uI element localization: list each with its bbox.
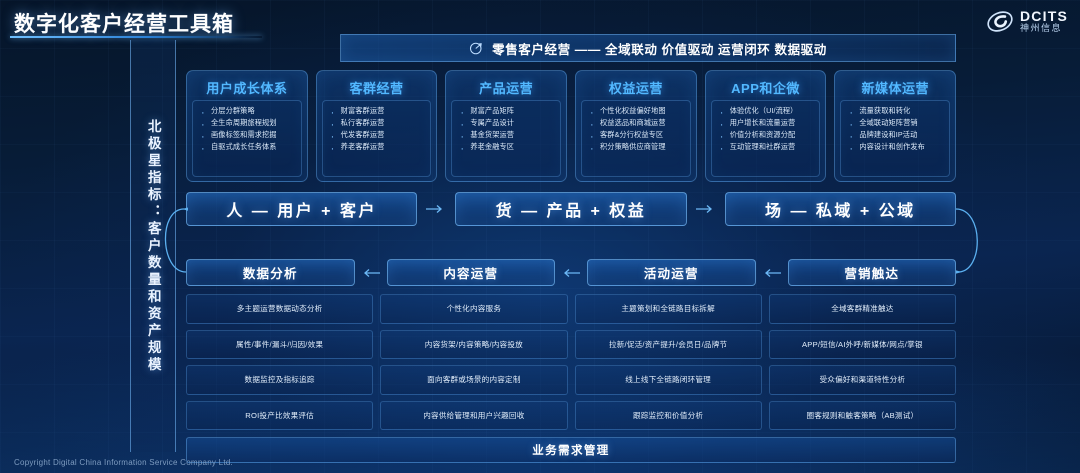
capability-card[interactable]: 产品运营 财富产品矩阵 专属产品设计 基金货架运营 养老金融专区 <box>445 70 567 182</box>
arrow-right-icon <box>696 204 716 214</box>
stage-header-content-ops[interactable]: 内容运营 <box>387 259 556 286</box>
capability-card[interactable]: APP和企微 体验优化（UI/流程） 用户增长和流量运营 价值分析和资源分配 互… <box>705 70 827 182</box>
north-star-rail: 北极星指标：客户数量和资产规模 <box>130 40 176 452</box>
pillar-flow-row: 人 — 用户 + 客户 货 — 产品 + 权益 场 — 私域 + 公域 <box>186 192 956 226</box>
logo-text-en: DCITS <box>1020 9 1068 24</box>
pillar-box-goods[interactable]: 货 — 产品 + 权益 <box>455 192 686 226</box>
card-bullet: 全域联动矩阵营销 <box>846 117 945 129</box>
card-title: 产品运营 <box>451 76 561 100</box>
detail-cell[interactable]: 多主题运营数据动态分析 <box>186 294 373 324</box>
page-title: 数字化客户经营工具箱 <box>14 8 234 38</box>
stage-header-campaign-ops[interactable]: 活动运营 <box>587 259 756 286</box>
card-title: APP和企微 <box>711 76 821 100</box>
capability-card[interactable]: 新媒体运营 流量获取和转化 全域联动矩阵营销 品牌建设和IP活动 内容设计和创作… <box>834 70 956 182</box>
detail-cell[interactable]: 受众偏好和渠道特性分析 <box>769 365 956 395</box>
detail-cell[interactable]: APP/短信/AI外呼/新媒体/网点/掌银 <box>769 330 956 360</box>
card-bullet: 养老客群运营 <box>328 141 427 153</box>
detail-cell[interactable]: 线上线下全链路闭环管理 <box>575 365 762 395</box>
card-bullet: 用户增长和流量运营 <box>717 117 816 129</box>
detail-cell[interactable]: ROI投产比效果评估 <box>186 401 373 431</box>
card-bullet: 自驱式成长任务体系 <box>198 141 297 153</box>
card-bullet: 互动管理和社群运营 <box>717 141 816 153</box>
card-body: 财富产品矩阵 专属产品设计 基金货架运营 养老金融专区 <box>451 100 561 177</box>
arrow-left-icon <box>562 268 580 278</box>
spiral-logo-icon <box>986 9 1014 34</box>
detail-cell[interactable]: 拉新/促活/资产提升/会员日/品牌节 <box>575 330 762 360</box>
card-bullet: 财富产品矩阵 <box>457 105 556 117</box>
detail-cell[interactable]: 数据监控及指标追踪 <box>186 365 373 395</box>
detail-cell[interactable]: 面向客群或场景的内容定制 <box>380 365 567 395</box>
detail-column-content-ops: 个性化内容服务 内容货架/内容策略/内容投放 面向客群或场景的内容定制 内容供给… <box>380 294 567 430</box>
card-bullet: 代发客群运营 <box>328 129 427 141</box>
bottom-bar-demand-management[interactable]: 业务需求管理 <box>186 437 956 463</box>
detail-cell[interactable]: 全域客群精准触达 <box>769 294 956 324</box>
target-arrow-icon <box>469 41 484 56</box>
stage-header-data-analysis[interactable]: 数据分析 <box>186 259 355 286</box>
capability-card[interactable]: 权益运营 个性化权益偏好地图 权益选品和商城运营 客群&分行权益专区 积分策略供… <box>575 70 697 182</box>
card-bullet: 内容设计和创作发布 <box>846 141 945 153</box>
capability-card[interactable]: 客群经营 财富客群运营 私行客群运营 代发客群运营 养老客群运营 <box>316 70 438 182</box>
arrow-left-icon <box>763 268 781 278</box>
detail-column-marketing-reach: 全域客群精准触达 APP/短信/AI外呼/新媒体/网点/掌银 受众偏好和渠道特性… <box>769 294 956 430</box>
copyright-text: Copyright Digital China Information Serv… <box>14 458 233 467</box>
card-bullet: 基金货架运营 <box>457 129 556 141</box>
logo-text-cn: 神州信息 <box>1020 24 1068 33</box>
card-bullet: 权益选品和商城运营 <box>587 117 686 129</box>
detail-cell[interactable]: 个性化内容服务 <box>380 294 567 324</box>
capability-card-row: 用户成长体系 分层分群策略 全生命周期旅程规划 画像标签和需求挖掘 自驱式成长任… <box>186 70 956 182</box>
north-star-label: 北极星指标：客户数量和资产规模 <box>146 119 160 374</box>
pillar-box-place[interactable]: 场 — 私域 + 公域 <box>725 192 956 226</box>
card-bullet: 价值分析和资源分配 <box>717 129 816 141</box>
stage-header-row: 数据分析 内容运营 活动运营 营销触达 <box>186 259 956 286</box>
card-body: 流量获取和转化 全域联动矩阵营销 品牌建设和IP活动 内容设计和创作发布 <box>840 100 950 177</box>
card-title: 新媒体运营 <box>840 76 950 100</box>
pillar-box-people[interactable]: 人 — 用户 + 客户 <box>186 192 417 226</box>
detail-column-data-analysis: 多主题运营数据动态分析 属性/事件/漏斗/归因/效果 数据监控及指标追踪 ROI… <box>186 294 373 430</box>
stage-header-marketing-reach[interactable]: 营销触达 <box>788 259 957 286</box>
detail-cell[interactable]: 跟踪监控和价值分析 <box>575 401 762 431</box>
card-bullet: 财富客群运营 <box>328 105 427 117</box>
detail-cell[interactable]: 属性/事件/漏斗/归因/效果 <box>186 330 373 360</box>
detail-cell[interactable]: 内容供给管理和用户兴趣回收 <box>380 401 567 431</box>
card-body: 体验优化（UI/流程） 用户增长和流量运营 价值分析和资源分配 互动管理和社群运… <box>711 100 821 177</box>
card-bullet: 个性化权益偏好地图 <box>587 105 686 117</box>
headline-text: 零售客户经营 —— 全域联动 价值驱动 运营闭环 数据驱动 <box>492 39 827 58</box>
card-bullet: 体验优化（UI/流程） <box>717 105 816 117</box>
card-bullet: 私行客群运营 <box>328 117 427 129</box>
card-bullet: 积分策略供应商管理 <box>587 141 686 153</box>
card-title: 用户成长体系 <box>192 76 302 100</box>
arrow-right-icon <box>426 204 446 214</box>
detail-column-campaign-ops: 主题策划和全链路目标拆解 拉新/促活/资产提升/会员日/品牌节 线上线下全链路闭… <box>575 294 762 430</box>
card-bullet: 客群&分行权益专区 <box>587 129 686 141</box>
card-body: 分层分群策略 全生命周期旅程规划 画像标签和需求挖掘 自驱式成长任务体系 <box>192 100 302 177</box>
card-body: 个性化权益偏好地图 权益选品和商城运营 客群&分行权益专区 积分策略供应商管理 <box>581 100 691 177</box>
card-bullet: 品牌建设和IP活动 <box>846 129 945 141</box>
arrow-left-icon <box>362 268 380 278</box>
detail-cell[interactable]: 内容货架/内容策略/内容投放 <box>380 330 567 360</box>
brand-logo: DCITS 神州信息 <box>986 9 1068 34</box>
card-bullet: 专属产品设计 <box>457 117 556 129</box>
headline-banner: 零售客户经营 —— 全域联动 价值驱动 运营闭环 数据驱动 <box>340 34 956 62</box>
card-title: 客群经营 <box>322 76 432 100</box>
title-underline <box>10 36 262 38</box>
card-bullet: 流量获取和转化 <box>846 105 945 117</box>
card-bullet: 画像标签和需求挖掘 <box>198 129 297 141</box>
card-bullet: 全生命周期旅程规划 <box>198 117 297 129</box>
detail-cell[interactable]: 圈客规则和触客策略（AB测试） <box>769 401 956 431</box>
card-title: 权益运营 <box>581 76 691 100</box>
card-bullet: 分层分群策略 <box>198 105 297 117</box>
card-body: 财富客群运营 私行客群运营 代发客群运营 养老客群运营 <box>322 100 432 177</box>
detail-cell[interactable]: 主题策划和全链路目标拆解 <box>575 294 762 324</box>
card-bullet: 养老金融专区 <box>457 141 556 153</box>
capability-card[interactable]: 用户成长体系 分层分群策略 全生命周期旅程规划 画像标签和需求挖掘 自驱式成长任… <box>186 70 308 182</box>
stage-detail-grid: 多主题运营数据动态分析 属性/事件/漏斗/归因/效果 数据监控及指标追踪 ROI… <box>186 294 956 430</box>
